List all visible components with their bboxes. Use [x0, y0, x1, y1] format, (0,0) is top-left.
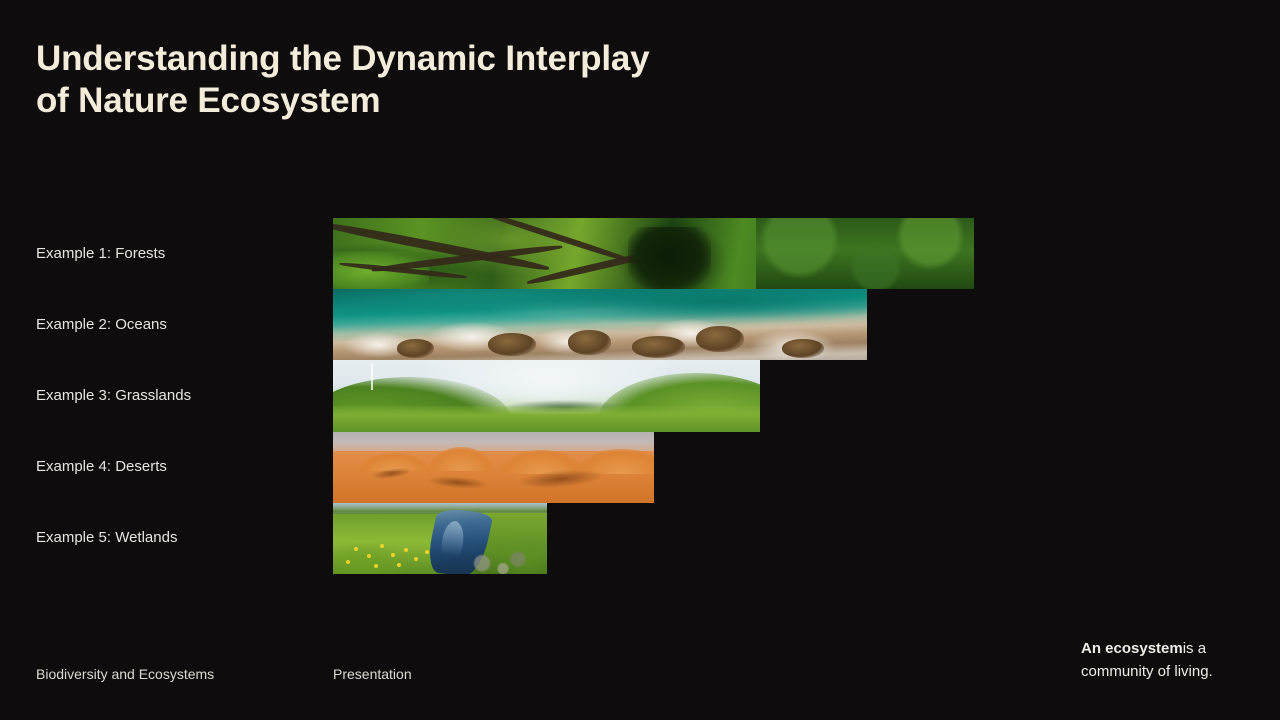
forest-canopy-photo	[333, 218, 974, 289]
wetland-flower	[346, 560, 350, 564]
grassland-hills-photo	[333, 360, 760, 431]
desert-dunes-photo	[333, 432, 654, 503]
ocean-rock	[568, 330, 611, 354]
wetland-flower	[374, 564, 378, 568]
footer-left-label: Biodiversity and Ecosystems	[36, 665, 214, 683]
list-item[interactable]: Example 5: Wetlands	[36, 503, 316, 574]
ocean-rock	[696, 326, 744, 352]
forest-dark-foliage	[628, 227, 711, 290]
wetland-flower	[397, 563, 401, 567]
list-item[interactable]: Example 2: Oceans	[36, 289, 316, 360]
list-item[interactable]: Example 4: Deserts	[36, 432, 316, 503]
ocean-rock	[397, 339, 434, 358]
list-item[interactable]: Example 1: Forests	[36, 218, 316, 289]
ocean-rock	[632, 336, 685, 357]
grassland-field	[333, 406, 760, 432]
wetland-rocks	[470, 547, 530, 574]
example-label: Example 4: Deserts	[36, 458, 167, 476]
definition-term: An ecosystem	[1081, 640, 1183, 657]
image-cascade	[333, 218, 974, 574]
desert-dune	[429, 447, 493, 471]
wetland-flower	[391, 553, 395, 557]
forest-far-canopy	[756, 218, 974, 289]
page-title: Understanding the Dynamic Interplay of N…	[36, 38, 736, 122]
desert-sky	[333, 432, 654, 451]
example-label: Example 2: Oceans	[36, 316, 167, 334]
grassland-pole	[371, 363, 373, 390]
ocean-shoreline-photo	[333, 289, 867, 360]
examples-list: Example 1: Forests Example 2: Oceans Exa…	[36, 218, 316, 574]
wetland-flower	[425, 550, 429, 554]
wetland-horizon	[333, 503, 547, 512]
list-item[interactable]: Example 3: Grasslands	[36, 360, 316, 431]
example-label: Example 5: Wetlands	[36, 529, 177, 547]
example-label: Example 1: Forests	[36, 245, 165, 263]
footer-center-label: Presentation	[333, 665, 412, 683]
wetland-stream-photo	[333, 503, 547, 574]
ocean-rock	[782, 339, 825, 358]
ocean-rock	[488, 333, 536, 356]
definition-note: An ecosystemis a community of living.	[1081, 637, 1271, 683]
desert-dune-shadow	[429, 475, 487, 490]
example-label: Example 3: Grasslands	[36, 387, 191, 405]
presentation-slide: { "slide": { "title": "Understanding the…	[0, 0, 1280, 720]
